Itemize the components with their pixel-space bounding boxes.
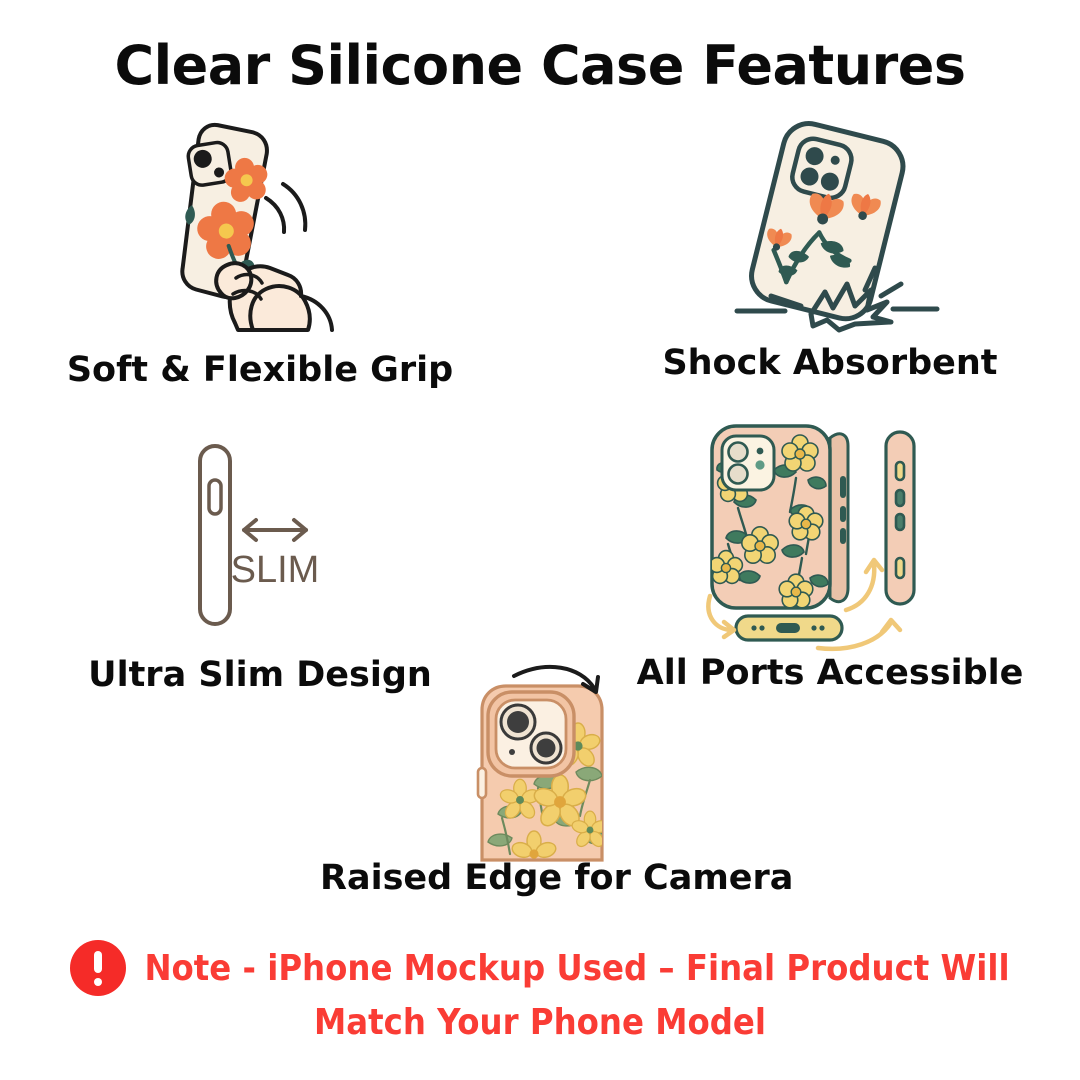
feature-grip: Soft & Flexible Grip <box>40 118 480 408</box>
feature-camera-label: Raised Edge for Camera <box>320 858 760 898</box>
exclamation-circle-icon <box>70 940 126 996</box>
hand-holding-flexed-phone-case-icon <box>135 118 395 333</box>
phone-drop-impact-icon <box>715 118 955 333</box>
phone-case-raised-camera-edge-icon <box>450 660 650 860</box>
feature-shock: Shock Absorbent <box>610 118 1050 408</box>
feature-shock-label: Shock Absorbent <box>610 343 1050 383</box>
note-banner: Note - iPhone Mockup Used – Final Produc… <box>0 940 1080 1043</box>
phone-case-ports-cutouts-icon <box>690 418 960 653</box>
feature-grip-label: Soft & Flexible Grip <box>40 350 480 390</box>
note-line-1: Note - iPhone Mockup Used – Final Produc… <box>144 948 1009 989</box>
slim-annotation-text: SLIM <box>231 549 320 591</box>
infographic-page: Clear Silicone Case Features <box>0 0 1080 1080</box>
note-line-2: Match Your Phone Model <box>314 1002 766 1043</box>
page-title: Clear Silicone Case Features <box>0 34 1080 97</box>
feature-camera: Raised Edge for Camera <box>320 660 760 930</box>
phone-side-profile-slim-icon: SLIM <box>180 430 360 640</box>
